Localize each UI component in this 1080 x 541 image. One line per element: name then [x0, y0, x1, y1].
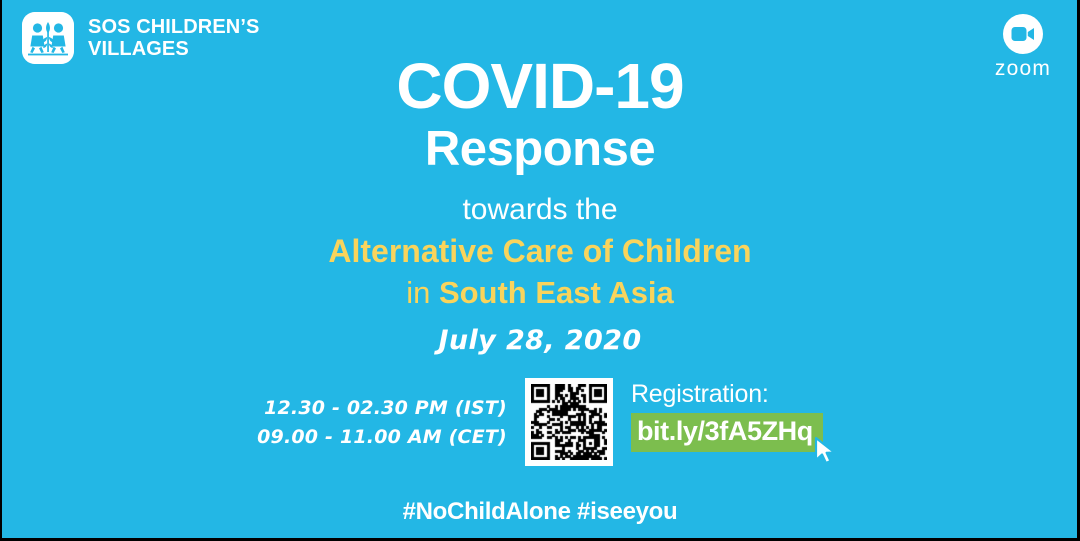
- zoom-circle: [1003, 14, 1043, 54]
- event-times: 12.30 - 02.30 PM (IST) 09.00 - 11.00 AM …: [257, 378, 507, 453]
- subhead-topic: Alternative Care of Children: [0, 231, 1080, 271]
- subhead-region-prefix: in: [406, 275, 439, 310]
- subhead-region-name: South East Asia: [439, 275, 674, 310]
- registration-info: Registration: bit.ly/3fA5ZHq: [631, 378, 823, 452]
- hashtags: #NoChildAlone #iseeyou: [0, 498, 1080, 526]
- headline-response: Response: [0, 122, 1080, 177]
- video-camera-icon: [1011, 26, 1035, 42]
- mouse-cursor-icon: [813, 436, 839, 466]
- event-date: July 28, 2020: [0, 325, 1080, 357]
- registration-label: Registration:: [631, 380, 823, 410]
- registration-block: 12.30 - 02.30 PM (IST) 09.00 - 11.00 AM …: [0, 378, 1080, 466]
- qr-code[interactable]: [525, 378, 613, 466]
- subhead-region: in South East Asia: [0, 274, 1080, 313]
- headline-block: COVID-19 Response towards the Alternativ…: [0, 54, 1080, 358]
- headline-covid: COVID-19: [0, 54, 1080, 118]
- registration-link-wrapper: bit.ly/3fA5ZHq: [631, 413, 823, 452]
- qr-code-icon: [531, 384, 607, 460]
- registration-link[interactable]: bit.ly/3fA5ZHq: [631, 413, 823, 452]
- subhead-towards: towards the: [0, 191, 1080, 229]
- frame-edge-left: [0, 0, 2, 541]
- webinar-poster: SOS CHILDREN’S VILLAGES zoom COVID-19 Re…: [0, 0, 1080, 541]
